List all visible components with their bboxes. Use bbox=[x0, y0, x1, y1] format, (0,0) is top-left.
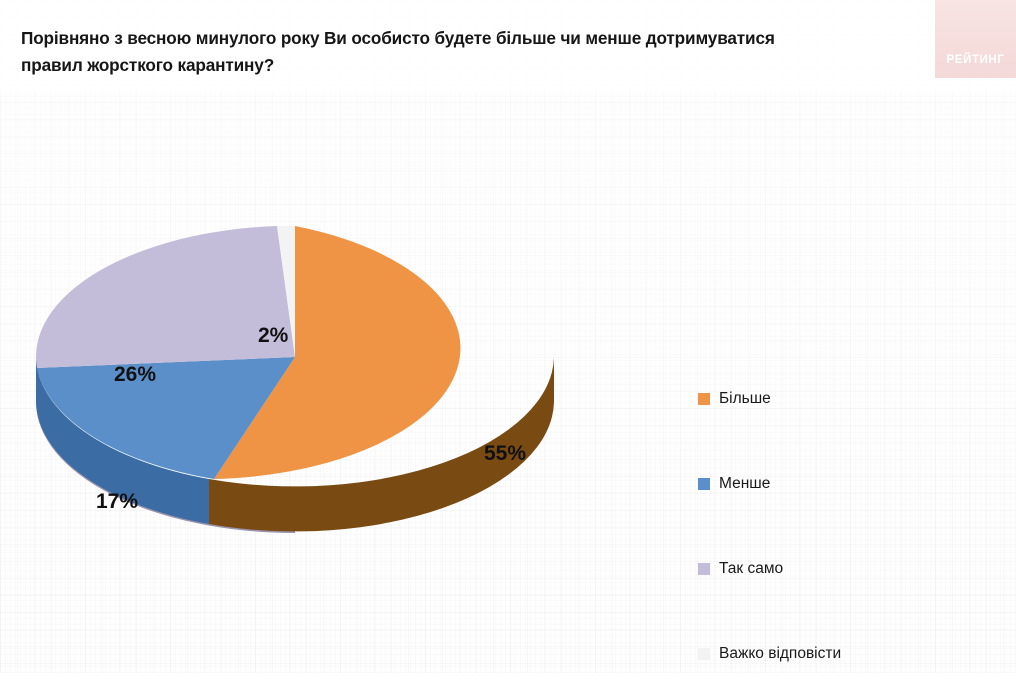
pie-label-bilshe: 55% bbox=[484, 442, 526, 466]
pie-label-tak-samo: 26% bbox=[114, 363, 156, 387]
legend-swatch-icon-tak-samo bbox=[698, 563, 710, 575]
legend-item-menshe[interactable]: Менше bbox=[698, 441, 988, 526]
pie-slice-tak-samo bbox=[36, 226, 295, 368]
legend-item-tak-samo[interactable]: Так само bbox=[698, 526, 988, 611]
legend-item-vazhko[interactable]: Важко відповісти bbox=[698, 611, 988, 696]
legend-swatch-icon-vazhko bbox=[698, 648, 710, 660]
pie-chart: 55% 17% 26% 2% Більше Менше Так само Важ… bbox=[0, 92, 1016, 673]
pie-label-menshe: 17% bbox=[96, 490, 138, 514]
brand-watermark: РЕЙТИНГ bbox=[935, 0, 1016, 78]
legend-item-bilshe[interactable]: Більше bbox=[698, 356, 988, 441]
chart-legend: Більше Менше Так само Важко відповісти bbox=[698, 356, 988, 696]
page-title: Порівняно з весною минулого року Ви особ… bbox=[21, 25, 921, 79]
legend-label-tak-samo: Так само bbox=[719, 561, 783, 577]
legend-swatch-icon-bilshe bbox=[698, 393, 710, 405]
legend-swatch-icon-menshe bbox=[698, 478, 710, 490]
legend-label-bilshe: Більше bbox=[719, 391, 771, 407]
brand-watermark-label: РЕЙТИНГ bbox=[935, 54, 1016, 66]
pie-label-vazhko: 2% bbox=[258, 324, 288, 348]
legend-label-menshe: Менше bbox=[719, 476, 770, 492]
legend-label-vazhko: Важко відповісти bbox=[719, 646, 841, 662]
